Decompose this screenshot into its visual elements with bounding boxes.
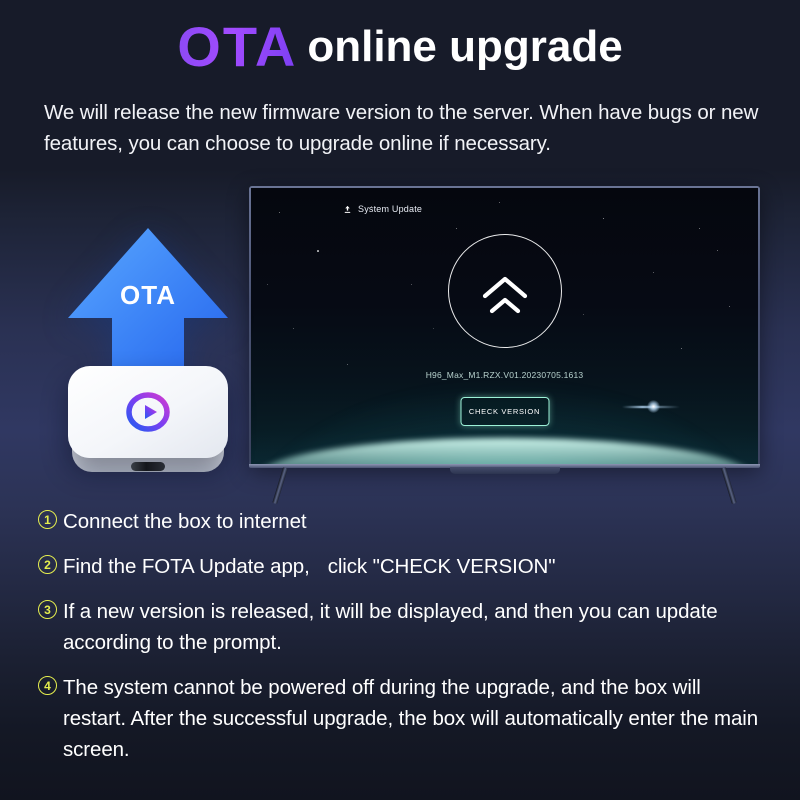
- page-header: OTAonline upgrade: [0, 14, 800, 79]
- step-text-part1: Find the FOTA Update app,: [63, 555, 310, 578]
- ota-arrow-label: OTA: [62, 280, 234, 311]
- tv-illustration: System Update H96_Max_M1.RZX.V01.2023070…: [249, 186, 760, 486]
- step-number: 3: [38, 600, 57, 619]
- system-update-label: System Update: [358, 204, 422, 214]
- play-circle-logo: [126, 392, 170, 432]
- upload-icon: [343, 205, 352, 214]
- step-number: 4: [38, 676, 57, 695]
- intro-paragraph: We will release the new firmware version…: [44, 97, 770, 159]
- step-text-part2: click "CHECK VERSION": [328, 555, 556, 578]
- firmware-version-text: H96_Max_M1.RZX.V01.20230705.1613: [251, 370, 758, 380]
- list-item: 1 Connect the box to internet: [38, 506, 768, 537]
- list-item: 3 If a new version is released, it will …: [38, 596, 768, 658]
- ota-arrow-graphic: OTA: [62, 222, 234, 382]
- tv-screen: System Update H96_Max_M1.RZX.V01.2023070…: [251, 188, 758, 464]
- step-number: 1: [38, 510, 57, 529]
- step-text: Find the FOTA Update app,click "CHECK VE…: [63, 551, 555, 582]
- step-text: The system cannot be powered off during …: [63, 672, 768, 765]
- page-title-rest: online upgrade: [307, 22, 622, 71]
- ota-upgrade-page: OTAonline upgrade We will release the ne…: [0, 0, 800, 800]
- tv-box-led-bar: [131, 462, 165, 471]
- step-text: If a new version is released, it will be…: [63, 596, 768, 658]
- tv-leg-right: [721, 467, 737, 504]
- tv-box-device: [68, 366, 228, 484]
- tv-leg-left: [272, 467, 288, 504]
- double-chevron-up-icon: [479, 276, 531, 316]
- check-version-button[interactable]: CHECK VERSION: [460, 397, 549, 426]
- step-number: 2: [38, 555, 57, 574]
- lens-flare-core: [647, 400, 660, 413]
- steps-list: 1 Connect the box to internet 2 Find the…: [38, 506, 768, 779]
- page-title-accent: OTA: [177, 15, 297, 78]
- step-text: Connect the box to internet: [63, 506, 306, 537]
- list-item: 2 Find the FOTA Update app,click "CHECK …: [38, 551, 768, 582]
- system-update-status: System Update: [343, 204, 422, 214]
- list-item: 4 The system cannot be powered off durin…: [38, 672, 768, 765]
- tv-center-bar: [450, 467, 560, 474]
